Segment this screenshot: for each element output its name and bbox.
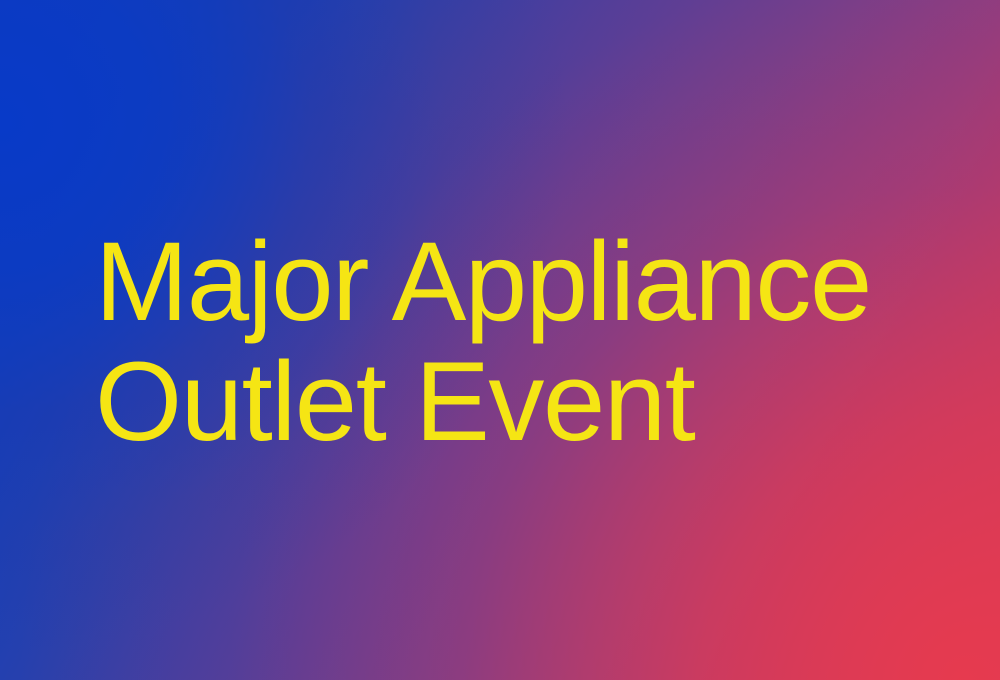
headline-line-2: Outlet Event xyxy=(95,342,955,462)
promo-banner: Major Appliance Outlet Event xyxy=(0,0,1000,680)
headline-line-1: Major Appliance xyxy=(95,222,955,342)
banner-headline: Major Appliance Outlet Event xyxy=(95,222,955,462)
